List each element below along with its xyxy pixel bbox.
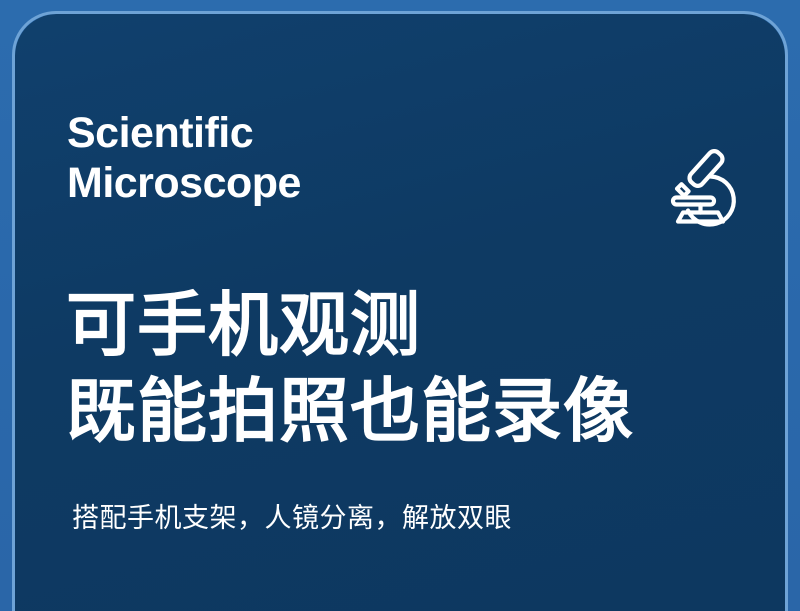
product-banner: Scientific Microscope 可手机观测 既能拍照也能录像 搭配手…	[0, 0, 800, 611]
english-title: Scientific Microscope	[67, 108, 301, 208]
subtitle: 搭配手机支架，人镜分离，解放双眼	[72, 500, 512, 536]
headline: 可手机观测 既能拍照也能录像	[66, 282, 634, 454]
microscope-icon	[655, 140, 745, 230]
headline-line-1: 可手机观测	[66, 282, 634, 368]
headline-line-2: 既能拍照也能录像	[66, 368, 634, 454]
